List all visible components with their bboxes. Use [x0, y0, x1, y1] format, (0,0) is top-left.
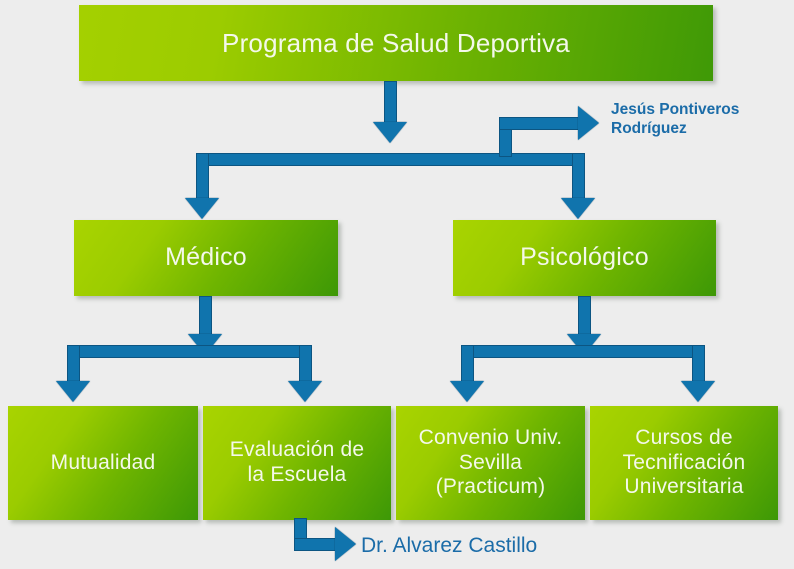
- connector-medico-trunk-vertical: [199, 296, 212, 336]
- connector-to-mutualidad-vertical: [67, 345, 80, 383]
- node-convenio-univ-sevilla[interactable]: Convenio Univ. Sevilla (Practicum): [396, 406, 585, 520]
- node-psicologico[interactable]: Psicológico: [453, 220, 716, 296]
- connector-to-psicologico-vertical: [572, 153, 585, 200]
- flowchart-canvas: Programa de Salud Deportiva Jesús Pontiv…: [0, 0, 794, 569]
- connector-medico-horizontal: [67, 345, 312, 358]
- connector-to-evaluator-arrowhead: [335, 527, 356, 561]
- node-label: Programa de Salud Deportiva: [222, 28, 570, 59]
- connector-to-lead-arrowhead: [578, 106, 599, 140]
- connector-level1-horizontal: [196, 153, 585, 166]
- connector-to-medico-arrowhead: [185, 198, 219, 219]
- node-mutualidad[interactable]: Mutualidad: [8, 406, 198, 520]
- annotation-program-lead: Jesús Pontiveros Rodríguez: [611, 101, 786, 139]
- annotation-school-evaluator: Dr. Alvarez Castillo: [361, 533, 661, 559]
- connector-to-medico-vertical: [196, 153, 209, 200]
- node-label: Cursos de Tecnificación Universitaria: [623, 426, 746, 500]
- node-label: Psicológico: [520, 243, 649, 273]
- node-medico[interactable]: Médico: [74, 220, 338, 296]
- connector-to-cursos-arrowhead: [681, 381, 715, 402]
- connector-psicologico-trunk-vertical: [578, 296, 591, 336]
- connector-trunk-arrowhead: [373, 122, 407, 143]
- node-evaluacion-de-la-escuela[interactable]: Evaluación de la Escuela: [203, 406, 391, 520]
- connector-to-evaluacion-vertical: [299, 345, 312, 383]
- connector-to-convenio-vertical: [461, 345, 474, 383]
- connector-to-lead-horizontal: [499, 117, 583, 130]
- connector-psicologico-horizontal: [461, 345, 705, 358]
- node-label: Médico: [165, 243, 247, 273]
- connector-to-cursos-vertical: [692, 345, 705, 383]
- connector-to-evaluacion-arrowhead: [288, 381, 322, 402]
- node-label: Mutualidad: [51, 451, 156, 476]
- node-label: Convenio Univ. Sevilla (Practicum): [419, 426, 563, 500]
- connector-to-convenio-arrowhead: [450, 381, 484, 402]
- node-label: Evaluación de la Escuela: [230, 438, 365, 488]
- connector-to-evaluator-horizontal: [294, 538, 340, 551]
- connector-trunk-vertical: [384, 81, 397, 124]
- node-cursos-de-tecnificacion-universitaria[interactable]: Cursos de Tecnificación Universitaria: [590, 406, 778, 520]
- connector-to-mutualidad-arrowhead: [56, 381, 90, 402]
- node-programa-de-salud-deportiva[interactable]: Programa de Salud Deportiva: [79, 5, 713, 81]
- connector-to-psicologico-arrowhead: [561, 198, 595, 219]
